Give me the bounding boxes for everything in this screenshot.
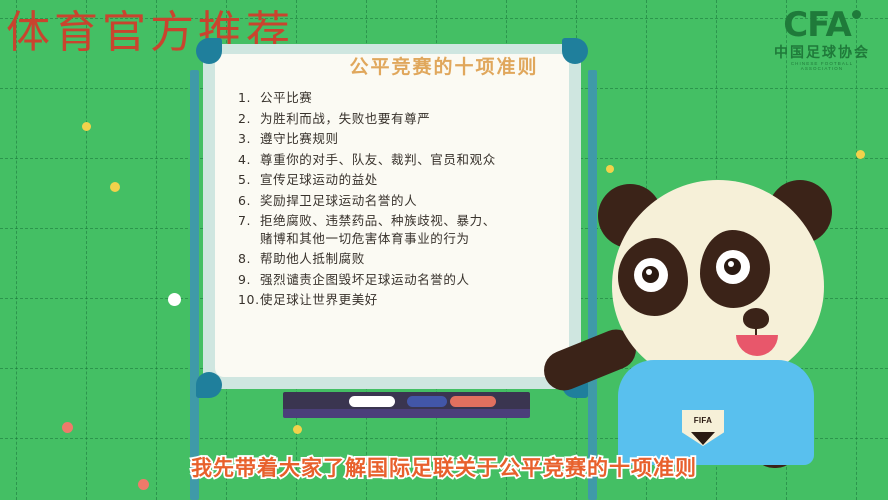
- rule-item: 2.为胜利而战，失败也要有尊严: [238, 113, 568, 126]
- panda-head: [612, 180, 824, 385]
- rule-item-number: 8.: [238, 253, 260, 266]
- rule-item-text: 遵守比赛规则: [260, 133, 568, 146]
- rule-item: 4.尊重你的对手、队友、裁判、官员和观众: [238, 154, 568, 167]
- marker-pen: [450, 396, 496, 407]
- panda-eye-glint-left: [646, 269, 652, 275]
- panda-nose: [743, 308, 769, 329]
- decor-dot: [62, 422, 73, 433]
- rule-item-text: 尊重你的对手、队友、裁判、官员和观众: [260, 154, 568, 167]
- fifa-badge-icon: FIFA: [682, 410, 724, 446]
- panda-eye-glint-right: [728, 261, 734, 267]
- marker-pen: [349, 396, 395, 407]
- decor-dot: [168, 293, 181, 306]
- rule-item-text: 公平比赛: [260, 92, 568, 105]
- rule-item-text: 使足球让世界更美好: [260, 294, 568, 307]
- rule-item-number: 4.: [238, 154, 260, 167]
- subtitle-caption: 我先带着大家了解国际足联关于公平竞赛的十项准则: [0, 452, 888, 482]
- marker-tray-base: [283, 409, 530, 418]
- board-title: 公平竞赛的十项准则: [0, 52, 888, 79]
- rule-item-text: 拒绝腐败、违禁药品、种族歧视、暴力、赌博和其他一切危害体育事业的行为: [260, 215, 568, 245]
- rule-item-number: 7.: [238, 215, 260, 245]
- rule-item-text: 宣传足球运动的益处: [260, 174, 568, 187]
- rule-item-number: 3.: [238, 133, 260, 146]
- rule-item: 6.奖励捍卫足球运动名誉的人: [238, 195, 568, 208]
- rule-item: 1.公平比赛: [238, 92, 568, 105]
- rule-item: 3.遵守比赛规则: [238, 133, 568, 146]
- easel-leg-left: [190, 70, 199, 500]
- decor-dot: [110, 182, 120, 192]
- rule-item: 9.强烈谴责企图毁坏足球运动名誉的人: [238, 274, 568, 287]
- rule-item-number: 5.: [238, 174, 260, 187]
- rule-item-number: 2.: [238, 113, 260, 126]
- rule-item-text: 强烈谴责企图毁坏足球运动名誉的人: [260, 274, 568, 287]
- cfa-logo-acronym: CFA: [770, 8, 874, 42]
- rule-item-text: 为胜利而战，失败也要有尊严: [260, 113, 568, 126]
- rule-item-number: 10.: [238, 294, 260, 307]
- rule-item-text-line2: 赌博和其他一切危害体育事业的行为: [260, 233, 568, 246]
- video-frame: 体育官方推荐 CFA 中国足球协会 CHINESE FOOTBALL ASSOC…: [0, 0, 888, 500]
- decor-dot: [82, 122, 91, 131]
- fifa-badge-label: FIFA: [682, 416, 724, 425]
- rule-item-number: 9.: [238, 274, 260, 287]
- marker-pen: [407, 396, 447, 407]
- rule-item: 10.使足球让世界更美好: [238, 294, 568, 307]
- football-icon: [852, 10, 861, 19]
- cfa-acronym-text: CFA: [783, 5, 851, 45]
- rule-item-text: 帮助他人抵制腐败: [260, 253, 568, 266]
- rule-item: 8.帮助他人抵制腐败: [238, 253, 568, 266]
- rule-item-text: 奖励捍卫足球运动名誉的人: [260, 195, 568, 208]
- rule-item-number: 6.: [238, 195, 260, 208]
- decor-dot: [856, 150, 865, 159]
- decor-dot: [293, 425, 302, 434]
- board-rules-list: 1.公平比赛2.为胜利而战，失败也要有尊严3.遵守比赛规则4.尊重你的对手、队友…: [238, 92, 568, 315]
- rule-item-number: 1.: [238, 92, 260, 105]
- board-clip-bottom-left: [196, 372, 222, 398]
- panda-referee-character: FIFA: [556, 170, 888, 460]
- rule-item: 7.拒绝腐败、违禁药品、种族歧视、暴力、赌博和其他一切危害体育事业的行为: [238, 215, 568, 245]
- rule-item: 5.宣传足球运动的益处: [238, 174, 568, 187]
- panda-mouth: [736, 335, 778, 356]
